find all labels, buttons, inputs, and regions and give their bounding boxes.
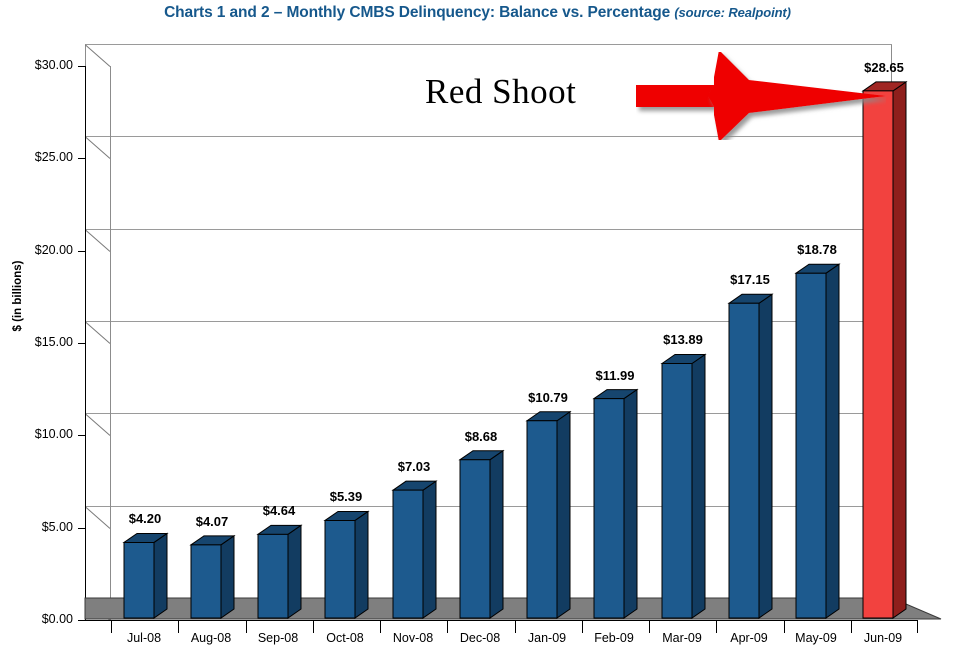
right-arrow-icon: [636, 52, 886, 140]
x-axis-label: Jun-09: [864, 631, 902, 645]
x-axis-tick: [917, 620, 918, 633]
bar-side-face: [893, 82, 906, 618]
bar-front-face: [863, 91, 893, 618]
annotation-label: Red Shoot: [425, 72, 576, 112]
x-axis-tick: [851, 620, 852, 633]
